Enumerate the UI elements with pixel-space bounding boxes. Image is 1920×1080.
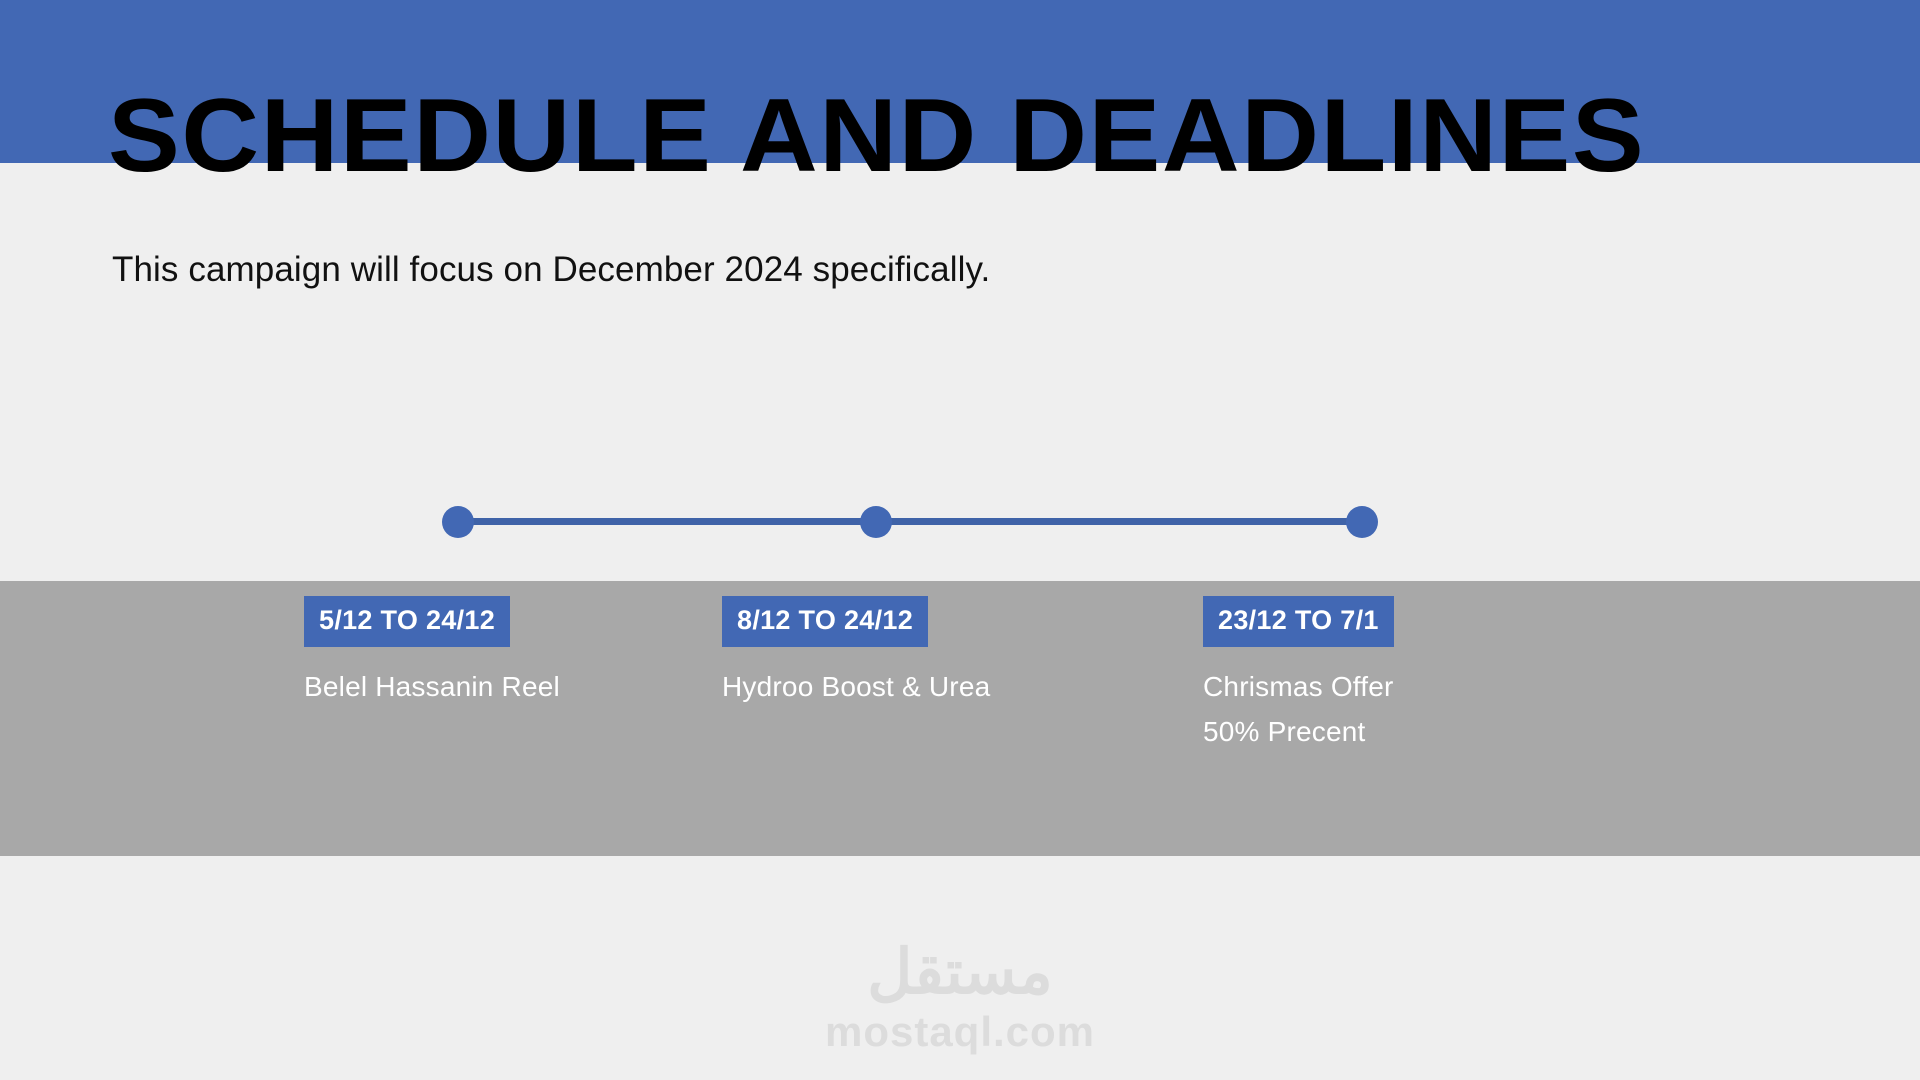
- milestone-date-badge: 8/12 TO 24/12: [722, 596, 928, 647]
- timeline-connector-icon: [458, 518, 876, 525]
- timeline-dot-icon: [860, 506, 892, 538]
- milestone-caption: Hydroo Boost & Urea: [722, 664, 990, 709]
- milestone-caption: Belel Hassanin Reel: [304, 664, 560, 709]
- milestone-item: 5/12 TO 24/12 Belel Hassanin Reel: [304, 596, 560, 709]
- watermark: مستقل mostaql.com: [0, 940, 1920, 1058]
- milestone-caption: Chrismas Offer 50% Precent: [1203, 664, 1394, 754]
- milestone-item: 8/12 TO 24/12 Hydroo Boost & Urea: [722, 596, 990, 709]
- timeline-dot-icon: [442, 506, 474, 538]
- slide-canvas: SCHEDULE AND DEADLINES This campaign wil…: [0, 0, 1920, 1080]
- milestone-date-badge: 5/12 TO 24/12: [304, 596, 510, 647]
- milestone-caption-line: Chrismas Offer: [1203, 664, 1394, 709]
- watermark-latin-text: mostaql.com: [0, 1006, 1920, 1058]
- milestone-caption-line: Belel Hassanin Reel: [304, 664, 560, 709]
- timeline-dot-icon: [1346, 506, 1378, 538]
- page-title: SCHEDULE AND DEADLINES: [108, 84, 1723, 188]
- timeline-connector-icon: [876, 518, 1362, 525]
- milestone-date-badge: 23/12 TO 7/1: [1203, 596, 1394, 647]
- page-subtitle: This campaign will focus on December 202…: [112, 248, 990, 292]
- watermark-arabic-logo: مستقل: [0, 940, 1920, 1006]
- milestone-caption-line: 50% Precent: [1203, 709, 1394, 754]
- milestone-caption-line: Hydroo Boost & Urea: [722, 664, 990, 709]
- milestone-item: 23/12 TO 7/1 Chrismas Offer 50% Precent: [1203, 596, 1394, 754]
